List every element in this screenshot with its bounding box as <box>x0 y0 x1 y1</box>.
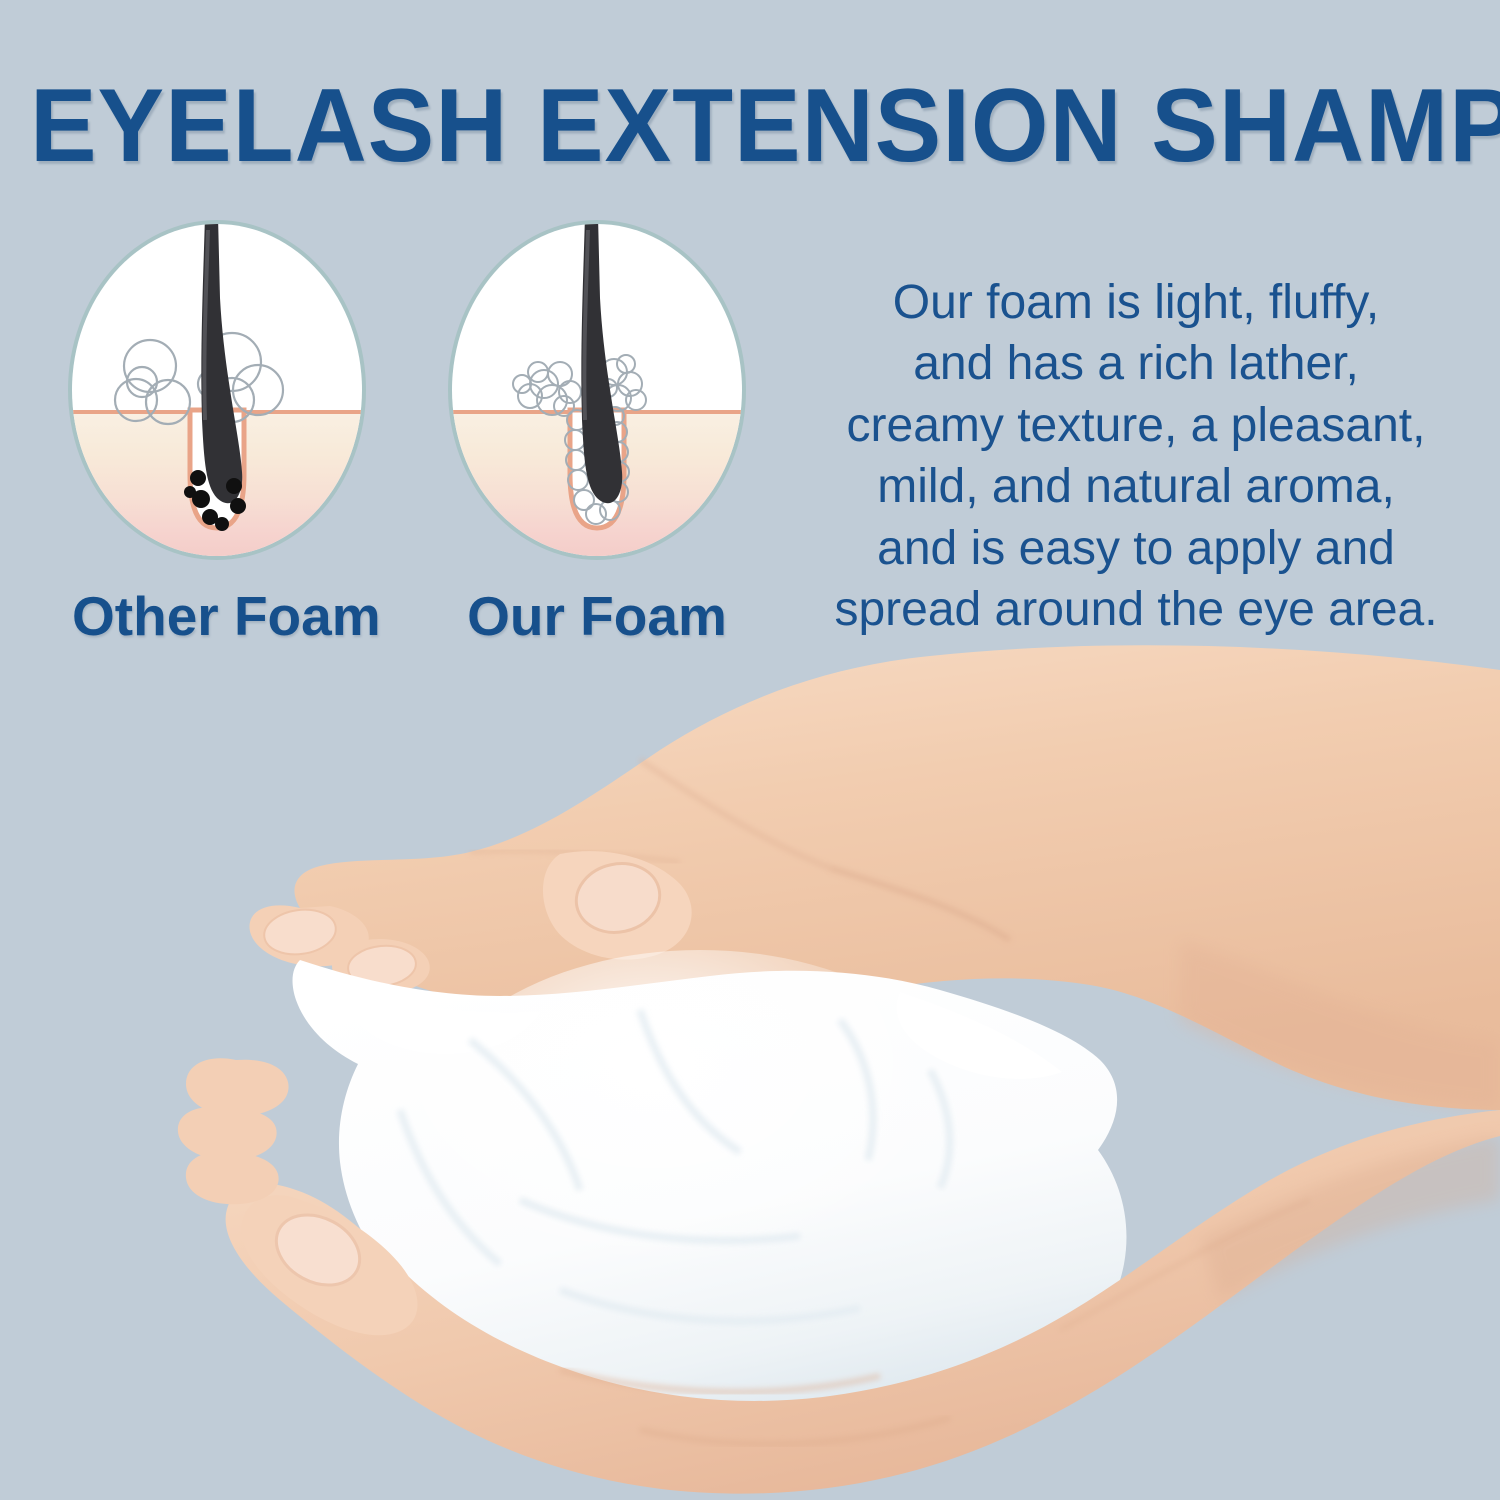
comparison-caption-our-foam: Our Foam <box>452 584 742 648</box>
lower-fingertip-3 <box>186 1152 279 1205</box>
product-description: Our foam is light, fluffy, and has a ric… <box>800 272 1472 641</box>
follicle-illustration-our <box>452 224 742 556</box>
lower-fingertip-1 <box>186 1058 289 1116</box>
comparison-item-other-foam: Other Foam <box>72 224 362 648</box>
comparison-caption-other-foam: Other Foam <box>72 584 362 648</box>
foam-highlight <box>410 950 990 1330</box>
follicle-diagram-our-foam <box>452 224 742 556</box>
product-infographic: EYELASH EXTENSION SHAMPOO <box>0 0 1500 1500</box>
follicle-diagram-other-foam <box>72 224 362 556</box>
hands-foam-illustration <box>0 640 1500 1500</box>
copy-line-6: spread around the eye area. <box>800 579 1472 640</box>
foam-in-hands-photo <box>0 640 1500 1500</box>
foam-bubbles-small-top <box>513 355 646 416</box>
copy-line-5: and is easy to apply and <box>800 518 1472 579</box>
copy-line-2: and has a rich lather, <box>800 333 1472 394</box>
copy-line-1: Our foam is light, fluffy, <box>800 272 1472 333</box>
page-title: EYELASH EXTENSION SHAMPOO <box>30 74 1470 178</box>
comparison-item-our-foam: Our Foam <box>452 224 742 648</box>
copy-line-4: mild, and natural aroma, <box>800 456 1472 517</box>
copy-line-3: creamy texture, a pleasant, <box>800 395 1472 456</box>
follicle-illustration-other <box>72 224 362 556</box>
